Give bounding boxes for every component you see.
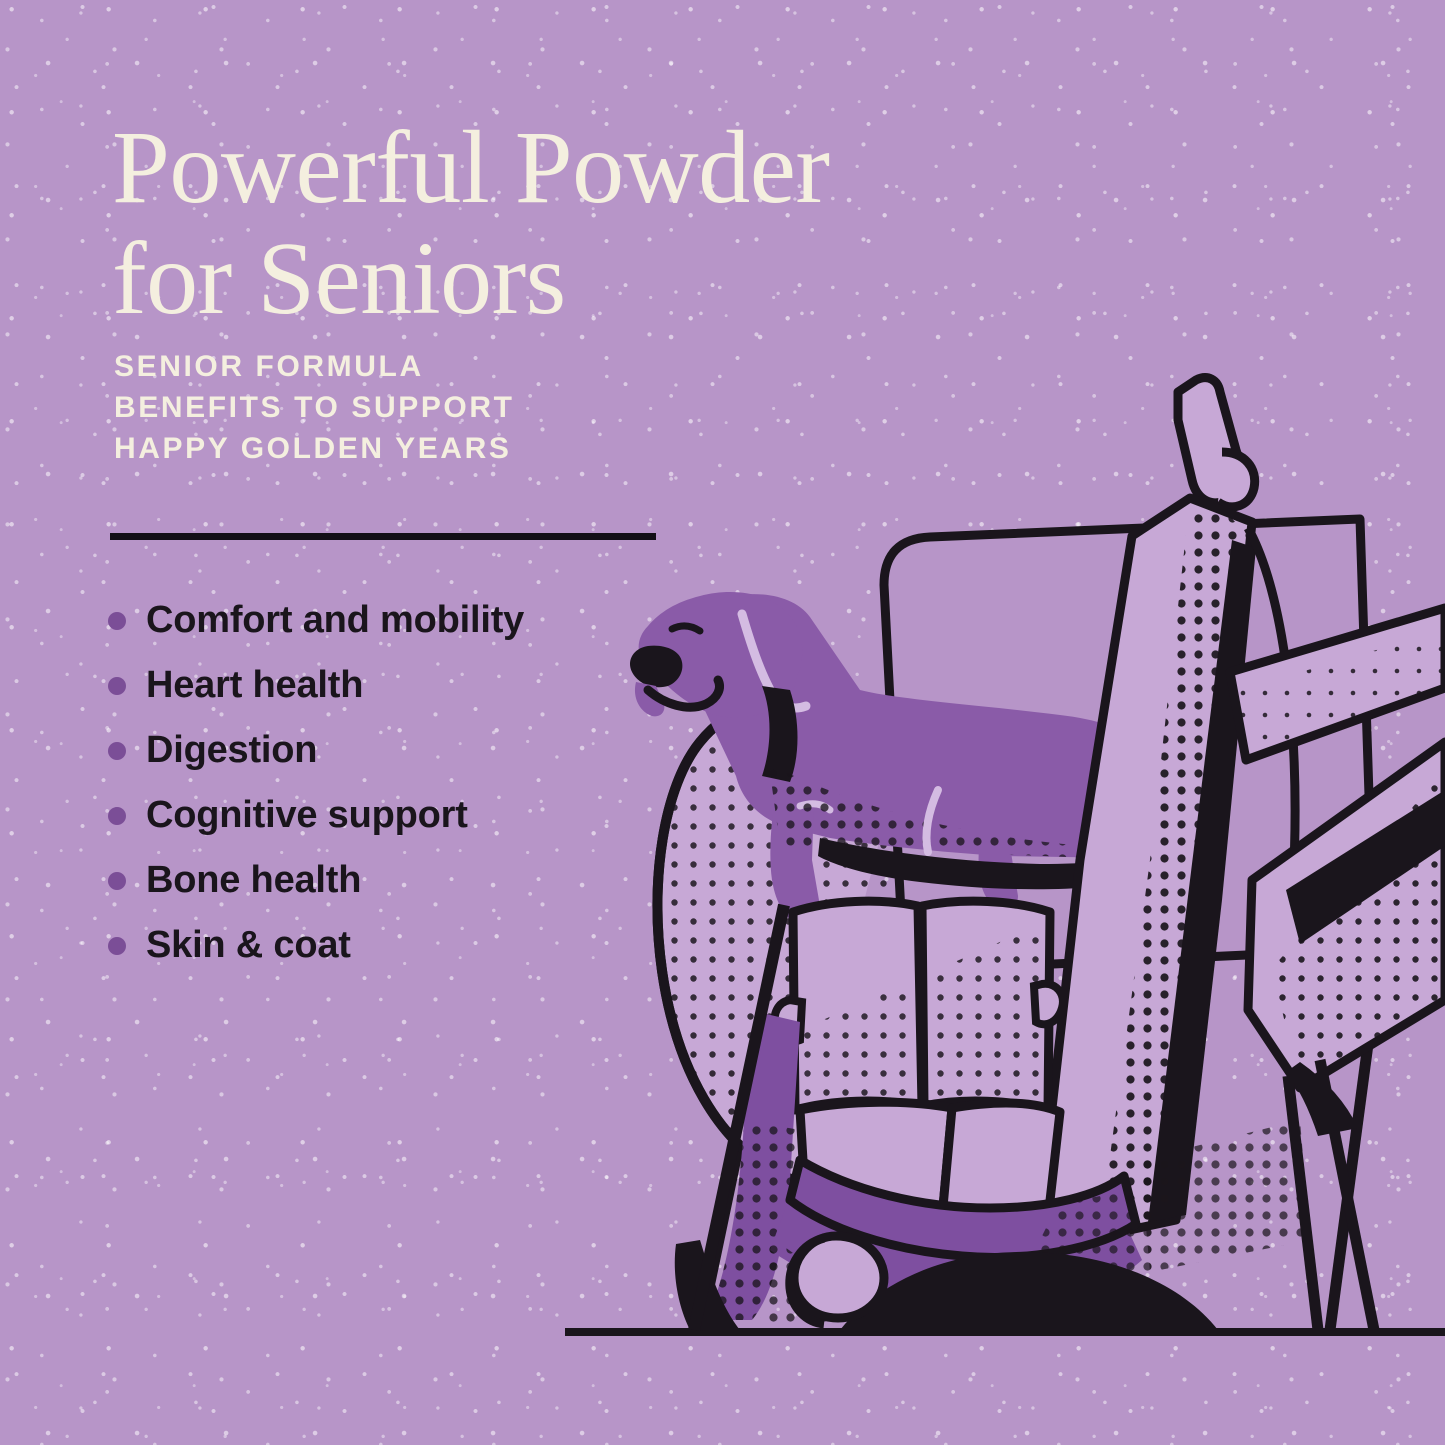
- list-item: Comfort and mobility: [108, 588, 728, 653]
- bullet-dot-icon: [108, 677, 126, 695]
- benefit-label: Digestion: [146, 729, 317, 772]
- bullet-dot-icon: [108, 807, 126, 825]
- benefit-label: Skin & coat: [146, 924, 351, 967]
- subheading: SENIOR FORMULA BENEFITS TO SUPPORT HAPPY…: [114, 347, 754, 469]
- poster: Powerful Powder for Seniors SENIOR FORMU…: [0, 0, 1445, 1445]
- benefit-label: Bone health: [146, 859, 361, 902]
- benefit-label: Cognitive support: [146, 794, 468, 837]
- benefit-label: Comfort and mobility: [146, 599, 524, 642]
- divider-rule: [110, 533, 656, 540]
- list-item: Heart health: [108, 653, 728, 718]
- list-item: Cognitive support: [108, 783, 728, 848]
- bullet-dot-icon: [108, 612, 126, 630]
- list-item: Digestion: [108, 718, 728, 783]
- list-item: Bone health: [108, 848, 728, 913]
- benefits-list: Comfort and mobility Heart health Digest…: [108, 588, 728, 978]
- bullet-dot-icon: [108, 742, 126, 760]
- list-item: Skin & coat: [108, 913, 728, 978]
- bullet-dot-icon: [108, 872, 126, 890]
- bullet-dot-icon: [108, 937, 126, 955]
- benefit-label: Heart health: [146, 664, 363, 707]
- page-title: Powerful Powder for Seniors: [112, 112, 1092, 335]
